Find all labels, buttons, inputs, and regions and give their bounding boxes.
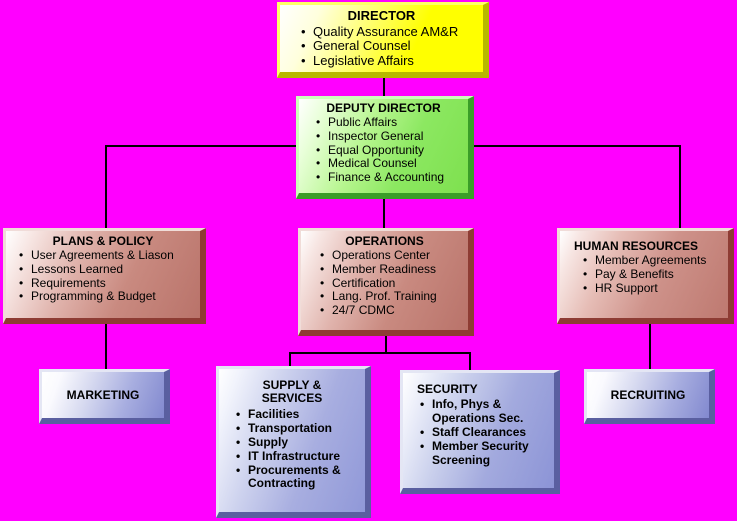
connector-operations-horizontal-bus	[289, 352, 471, 354]
list-item: Public Affairs	[315, 116, 468, 130]
node-deputy-director[interactable]: DEPUTY DIRECTOR Public Affairs Inspector…	[296, 96, 474, 199]
node-operations-list: Operations Center Member Readiness Certi…	[301, 249, 468, 317]
node-supply-services[interactable]: SUPPLY & SERVICES Facilities Transportat…	[216, 366, 371, 518]
list-item: Equal Opportunity	[315, 144, 468, 158]
connector-deputy-stem-down	[383, 199, 385, 229]
node-deputy-director-list: Public Affairs Inspector General Equal O…	[299, 116, 468, 184]
org-chart-canvas: DIRECTOR Quality Assurance AM&R General …	[0, 0, 737, 521]
connector-operations-stem-down	[385, 336, 387, 353]
connector-director-to-deputy	[383, 77, 385, 97]
list-item: User Agreements & Liason	[18, 249, 200, 263]
list-item: Supply	[235, 436, 365, 450]
list-item: Quality Assurance AM&R	[300, 25, 483, 40]
list-item: Legislative Affairs	[300, 54, 483, 69]
list-item: Lang. Prof. Training	[319, 290, 468, 304]
node-director[interactable]: DIRECTOR Quality Assurance AM&R General …	[277, 2, 489, 78]
node-operations-title: OPERATIONS	[301, 231, 468, 249]
node-supply-services-title: SUPPLY & SERVICES	[219, 369, 365, 408]
node-recruiting[interactable]: RECRUITING	[584, 369, 715, 424]
list-item: Staff Clearances	[419, 426, 554, 440]
node-recruiting-title: RECRUITING	[587, 372, 709, 402]
connector-bus-to-security	[469, 352, 471, 372]
list-item: 24/7 CDMC	[319, 304, 468, 318]
node-human-resources[interactable]: HUMAN RESOURCES Member Agreements Pay & …	[557, 228, 734, 324]
node-supply-services-list: Facilities Transportation Supply IT Infr…	[219, 408, 365, 491]
connector-bus-to-plans	[105, 145, 107, 229]
list-item: Operations Center	[319, 249, 468, 263]
list-item: Pay & Benefits	[582, 268, 728, 282]
list-item: Inspector General	[315, 130, 468, 144]
list-item: Facilities	[235, 408, 365, 422]
node-security[interactable]: SECURITY Info, Phys & Operations Sec. St…	[400, 370, 560, 494]
node-director-list: Quality Assurance AM&R General Counsel L…	[280, 25, 483, 69]
node-deputy-director-title: DEPUTY DIRECTOR	[299, 99, 468, 116]
list-item: Medical Counsel	[315, 157, 468, 171]
list-item: Procurements & Contracting	[235, 464, 365, 492]
node-director-title: DIRECTOR	[280, 5, 483, 25]
list-item: Requirements	[18, 277, 200, 291]
connector-hr-to-recruiting	[649, 324, 651, 370]
node-marketing-title: MARKETING	[42, 372, 164, 402]
connector-plans-to-marketing	[105, 324, 107, 370]
list-item: Member Security Screening	[419, 440, 554, 468]
node-marketing[interactable]: MARKETING	[39, 369, 170, 424]
list-item: Certification	[319, 277, 468, 291]
list-item: IT Infrastructure	[235, 450, 365, 464]
node-operations[interactable]: OPERATIONS Operations Center Member Read…	[298, 228, 474, 336]
list-item: Finance & Accounting	[315, 171, 468, 185]
list-item: Member Agreements	[582, 254, 728, 268]
list-item: HR Support	[582, 282, 728, 296]
connector-bus-to-hr	[679, 145, 681, 229]
node-plans-policy-list: User Agreements & Liason Lessons Learned…	[6, 249, 200, 304]
list-item: General Counsel	[300, 39, 483, 54]
list-item: Member Readiness	[319, 263, 468, 277]
node-plans-policy[interactable]: PLANS & POLICY User Agreements & Liason …	[3, 228, 206, 324]
node-human-resources-list: Member Agreements Pay & Benefits HR Supp…	[560, 254, 728, 295]
node-security-list: Info, Phys & Operations Sec. Staff Clear…	[403, 398, 554, 468]
list-item: Info, Phys & Operations Sec.	[419, 398, 554, 426]
list-item: Lessons Learned	[18, 263, 200, 277]
node-plans-policy-title: PLANS & POLICY	[6, 231, 200, 249]
list-item: Programming & Budget	[18, 290, 200, 304]
node-human-resources-title: HUMAN RESOURCES	[560, 231, 728, 254]
node-security-title: SECURITY	[403, 373, 554, 398]
list-item: Transportation	[235, 422, 365, 436]
